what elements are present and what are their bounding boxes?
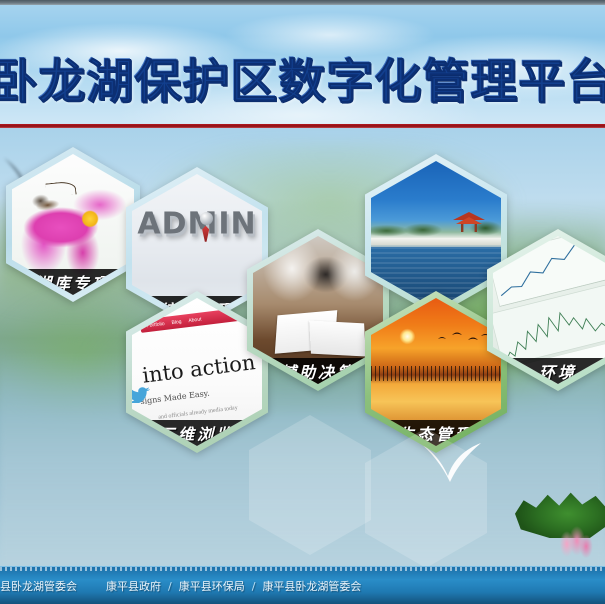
marsh-reeds — [371, 366, 501, 381]
into-action-subtext: signs Made Easy. — [140, 383, 257, 406]
stone-railing — [371, 238, 501, 245]
footer-top-dotted-line — [0, 567, 605, 571]
into-action-headline: into action — [141, 350, 255, 387]
admin-word-label: ADMIN — [137, 207, 256, 242]
footer-link-environmental-bureau[interactable]: 康平县环保局 — [179, 578, 245, 594]
document-sheet — [309, 320, 365, 356]
footer-bar: 康平县卧龙湖管委会 康平县政府 / 康平县环保局 / 康平县卧龙湖管委会 — [0, 566, 605, 604]
main-stage: 湖库专项 ADMIN 综合管理 Portfolio — [0, 128, 605, 566]
tile-lake-reservoir-special[interactable]: 湖库专项 — [6, 147, 140, 302]
footer-separator: / — [252, 580, 256, 593]
lotus-flower-decoration — [553, 524, 599, 564]
footer-link-county-government[interactable]: 康平县政府 — [106, 578, 161, 594]
nav-item-blog: Blog — [171, 318, 182, 325]
application-root: 卧龙湖保护区数字化管理平台 — [0, 0, 605, 604]
twitter-bird-icon — [132, 387, 151, 408]
page-title: 卧龙湖保护区数字化管理平台 — [0, 46, 605, 108]
flying-birds-icon — [436, 331, 493, 355]
footer-separator: / — [168, 580, 172, 593]
tile-ecological-management[interactable]: 生态管理 — [365, 291, 507, 453]
footer-link-wolonghu-committee[interactable]: 康平县卧龙湖管委会 — [262, 578, 361, 594]
pavilion-icon — [449, 211, 489, 233]
footer-links: 康平县政府 / 康平县环保局 / 康平县卧龙湖管委会 — [106, 578, 361, 594]
tile-environment-monitoring[interactable]: 环境 — [487, 229, 605, 391]
footer-owner-label: 康平县卧龙湖管委会 — [0, 578, 77, 594]
into-action-subtext-secondary: and officials already media today — [158, 401, 262, 421]
nav-item-about: About — [188, 316, 202, 324]
